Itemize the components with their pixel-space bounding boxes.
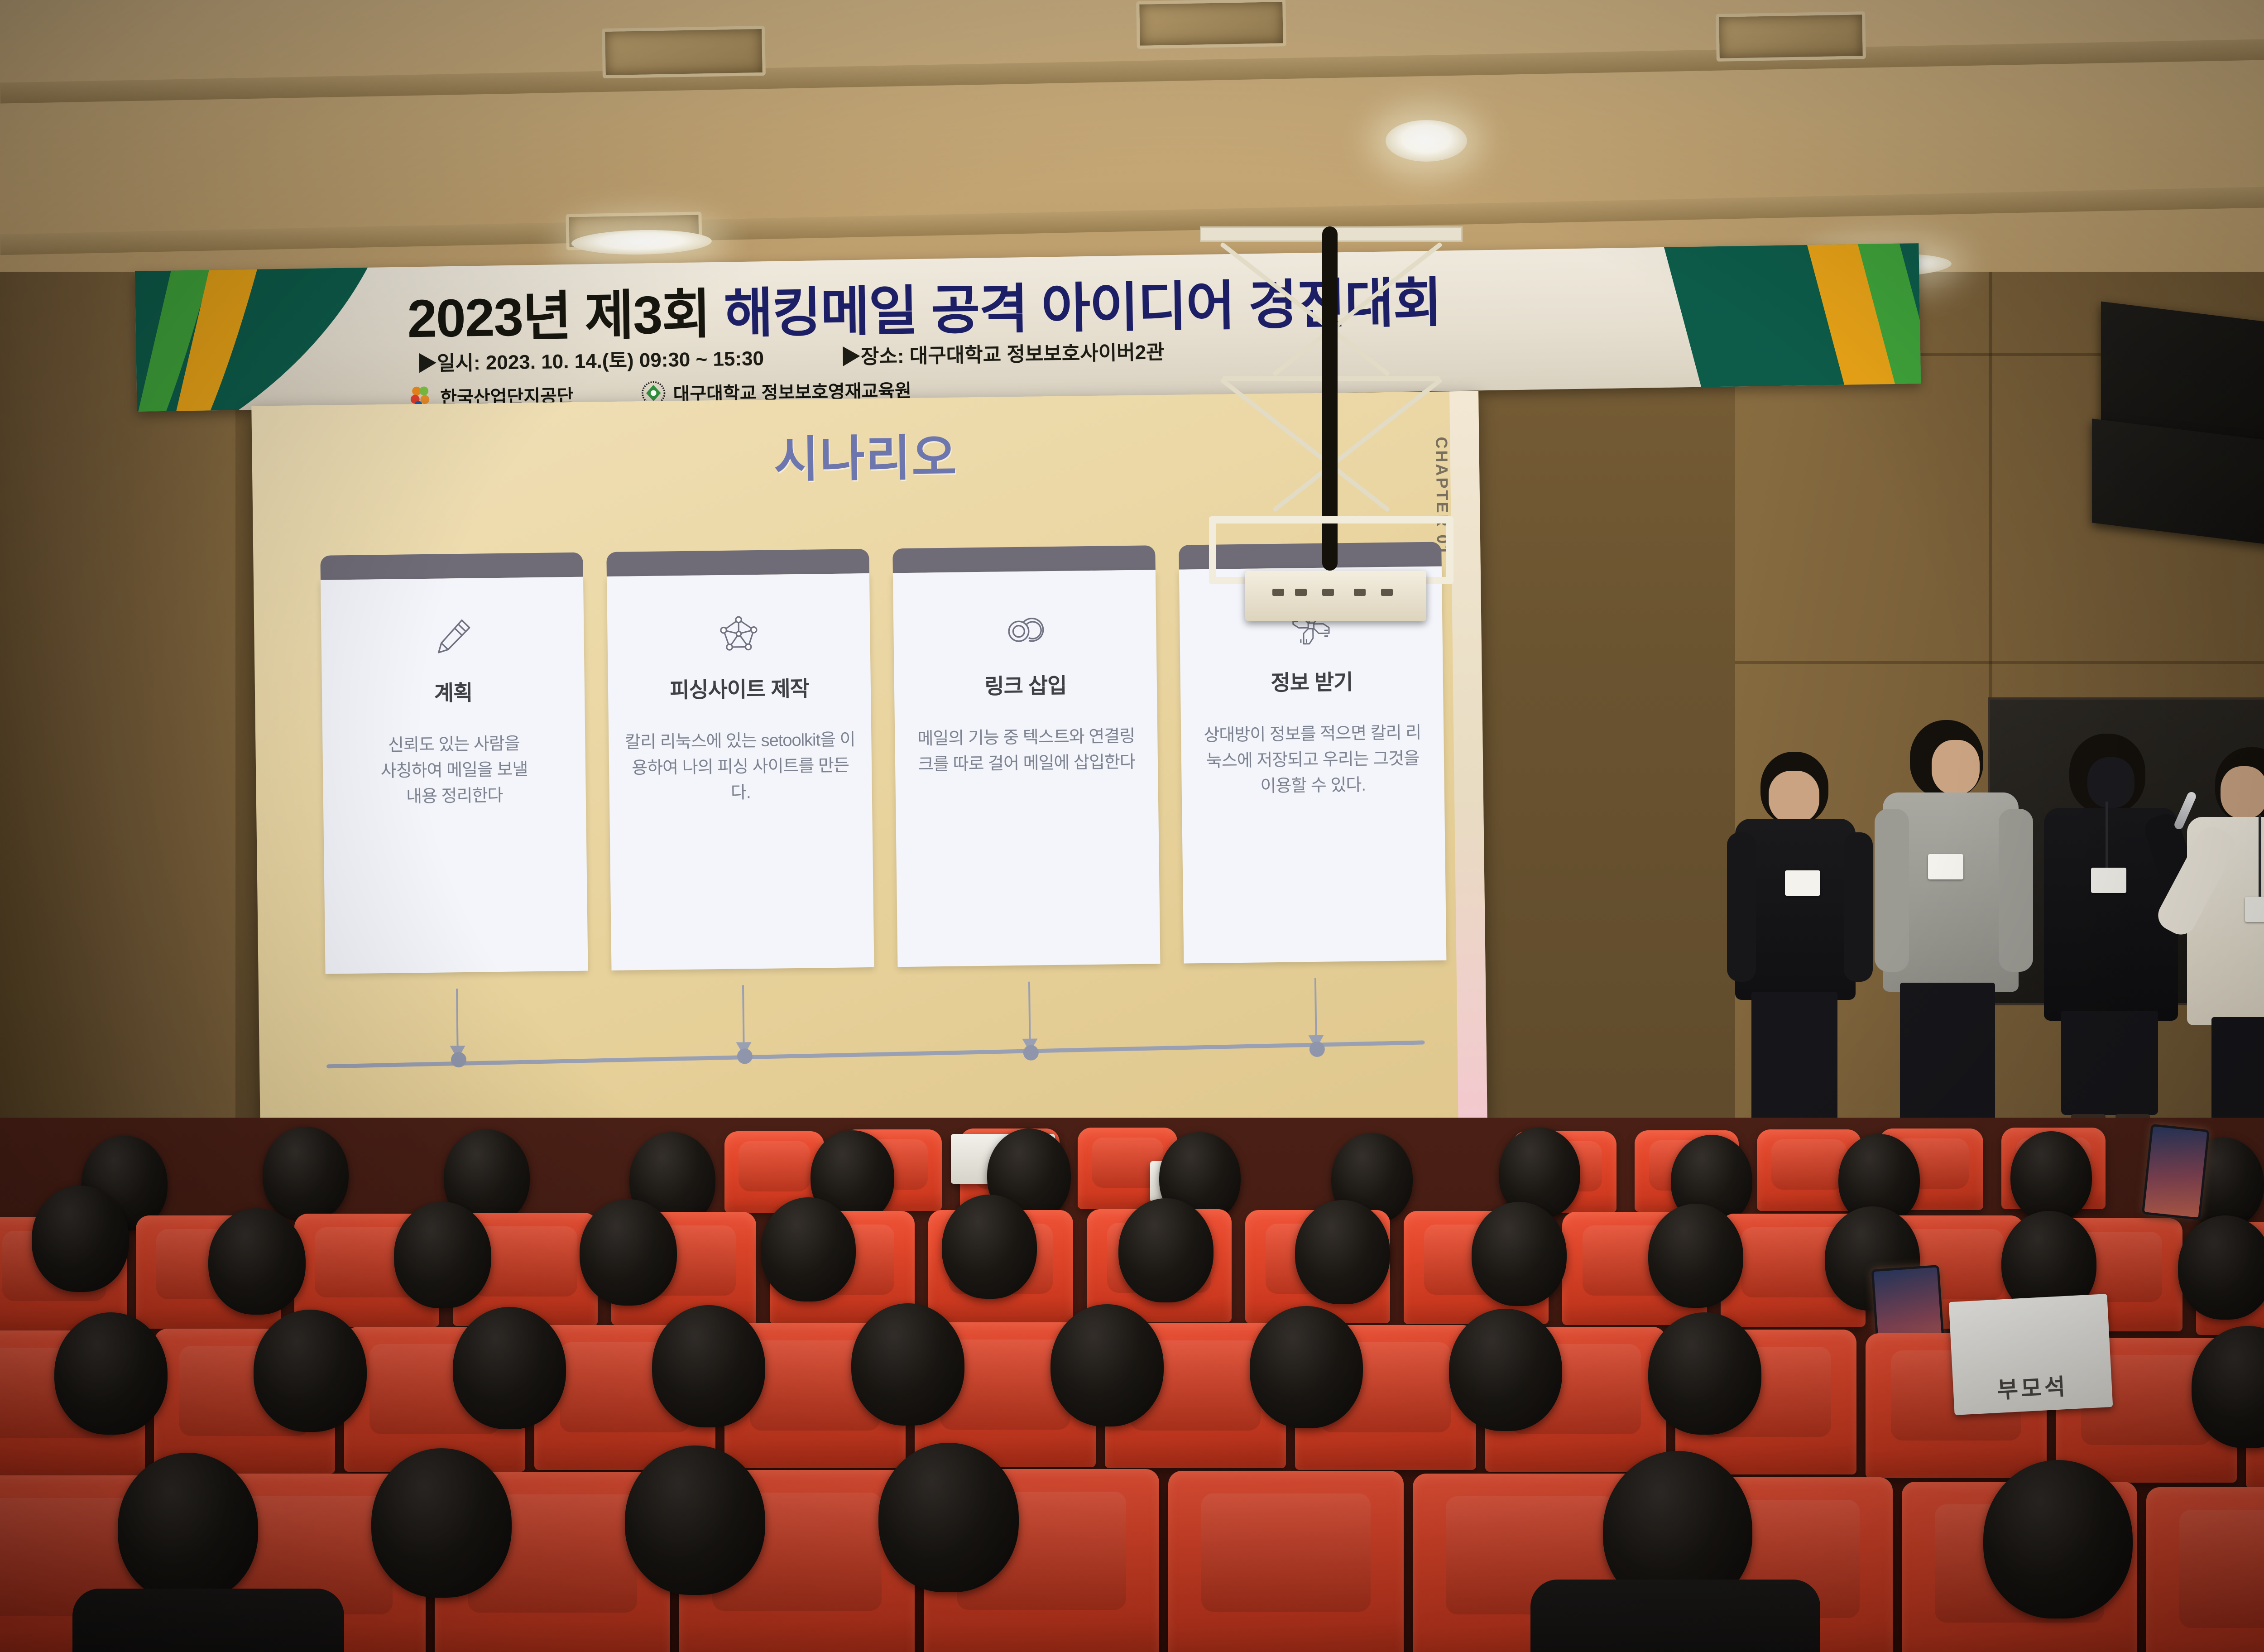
audience-head [942, 1195, 1037, 1299]
face [1932, 740, 1980, 794]
audience-head [394, 1202, 491, 1308]
ceiling-vent-icon [602, 26, 766, 78]
card-body: 피싱사이트 제작 칼리 리눅스에 있는 setoolkit을 이용하여 나의 피… [607, 573, 874, 970]
audience-head [761, 1197, 856, 1301]
timeline-node [1309, 1042, 1325, 1057]
audience-head [1648, 1312, 1761, 1435]
ceiling-light [1386, 120, 1467, 162]
audience-shoulders [1530, 1580, 1820, 1652]
card-tab [892, 545, 1156, 573]
audience-head [1250, 1306, 1363, 1428]
audience-head [1449, 1309, 1562, 1431]
face [1769, 771, 1819, 823]
arm [1875, 809, 1909, 972]
card-title: 링크 삽입 [909, 667, 1142, 701]
audience-shoulders [72, 1589, 344, 1652]
banner-title-edition: 2023년 제3회 [407, 284, 711, 349]
audience-head [1983, 1460, 2133, 1618]
name-badge [2091, 868, 2126, 893]
timeline-arrow-icon [1314, 978, 1317, 1046]
banner-venue: ▶장소: 대구대학교 정보보호사이버2관 [840, 336, 1165, 370]
banner-date: ▶일시: 2023. 10. 14.(토) 09:30 ~ 15:30 [417, 342, 764, 376]
card-body: 링크 삽입 메일의 기능 중 텍스트와 연결링크를 따로 걸어 메일에 삽입한다 [893, 570, 1161, 967]
audience-head [453, 1307, 566, 1429]
audience-head [254, 1310, 367, 1432]
lanyard [2106, 802, 2108, 869]
name-badge [1785, 870, 1820, 896]
network-nodes-icon [623, 604, 855, 661]
auditorium-scene: 2023년 제3회 해킹메일 공격 아이디어 경진대회 ▶일시: 2023. 1… [0, 0, 2264, 1652]
audience-head [1050, 1304, 1164, 1426]
linked-circles-icon [909, 601, 1141, 658]
pencil-icon [336, 608, 569, 665]
scenario-card: 링크 삽입 메일의 기능 중 텍스트와 연결링크를 따로 걸어 메일에 삽입한다 [892, 545, 1160, 967]
timeline-line [326, 1040, 1425, 1068]
audience-head [1472, 1202, 1567, 1306]
ceiling-beam [0, 35, 2264, 103]
arm [1844, 832, 1873, 982]
projector-lift [1200, 226, 1463, 625]
audience-head [1295, 1200, 1390, 1304]
audience-head [851, 1303, 964, 1426]
audience-head [118, 1453, 258, 1602]
phone-screen[interactable] [2142, 1124, 2210, 1220]
card-tab [320, 552, 583, 580]
timeline-node [1023, 1045, 1039, 1060]
lanyard [2259, 815, 2261, 901]
scenario-card: 피싱사이트 제작 칼리 리눅스에 있는 setoolkit을 이용하여 나의 피… [606, 549, 874, 970]
legs-shorts [2061, 1011, 2158, 1115]
card-body: 정보 받기 상대방이 정보를 적으면 칼리 리눅스에 저장되고 우리는 그것을 … [1179, 567, 1447, 964]
arm [1727, 832, 1756, 982]
audience-head [1648, 1204, 1743, 1308]
audience-head [263, 1127, 349, 1222]
audience-head [625, 1445, 765, 1595]
audience-head [2178, 1215, 2264, 1320]
card-title: 피싱사이트 제작 [624, 670, 856, 704]
seat [1168, 1471, 1404, 1652]
timeline-arrow-icon [742, 985, 745, 1053]
audience-head [878, 1443, 1019, 1592]
audience-head [208, 1208, 306, 1315]
card-desc: 상대방이 정보를 적으면 칼리 리눅스에 저장되고 우리는 그것을 이용할 수 … [1196, 720, 1429, 800]
audience-head [580, 1199, 677, 1306]
timeline-arrow-icon [1028, 982, 1031, 1050]
card-body: 계획 신뢰도 있는 사람을 사칭하여 메일을 보낼 내용 정리한다 [321, 577, 588, 974]
ceiling-vent-icon [1716, 11, 1866, 62]
name-badge [1928, 854, 1963, 879]
audience-head [2010, 1131, 2092, 1222]
audience-head [1118, 1198, 1214, 1302]
seat [2146, 1487, 2264, 1652]
audience-head [371, 1448, 512, 1598]
face-with-mask [2087, 757, 2134, 808]
audience-area: 부모석 [0, 1118, 2264, 1652]
arm [1999, 809, 2033, 972]
ceiling-vent-icon [1136, 0, 1286, 49]
card-desc: 신뢰도 있는 사람을 사칭하여 메일을 보낼 내용 정리한다 [338, 730, 571, 811]
card-title: 정보 받기 [1195, 663, 1428, 697]
timeline-node [737, 1048, 753, 1064]
timeline-arrow-icon [456, 989, 459, 1057]
projector [1245, 571, 1426, 621]
ceiling-beam [0, 182, 2264, 255]
scenario-card: 계획 신뢰도 있는 사람을 사칭하여 메일을 보낼 내용 정리한다 [320, 552, 588, 974]
card-title: 계획 [337, 674, 570, 708]
audience-head [54, 1312, 168, 1435]
scenario-timeline [326, 977, 1437, 1085]
card-desc: 메일의 기능 중 텍스트와 연결링크를 따로 걸어 메일에 삽입한다 [910, 724, 1142, 778]
seat-sign-parents: 부모석 [1949, 1294, 2113, 1415]
event-banner: 2023년 제3회 해킹메일 공격 아이디어 경진대회 ▶일시: 2023. 1… [135, 243, 1921, 412]
ceiling [0, 0, 2264, 272]
card-tab [606, 549, 869, 576]
audience-head [652, 1305, 765, 1427]
name-badge [2245, 897, 2264, 922]
card-desc: 칼리 리눅스에 있는 setoolkit을 이용하여 나의 피싱 사이트를 만든… [624, 727, 857, 807]
audience-head [32, 1186, 129, 1292]
face [2221, 766, 2264, 819]
